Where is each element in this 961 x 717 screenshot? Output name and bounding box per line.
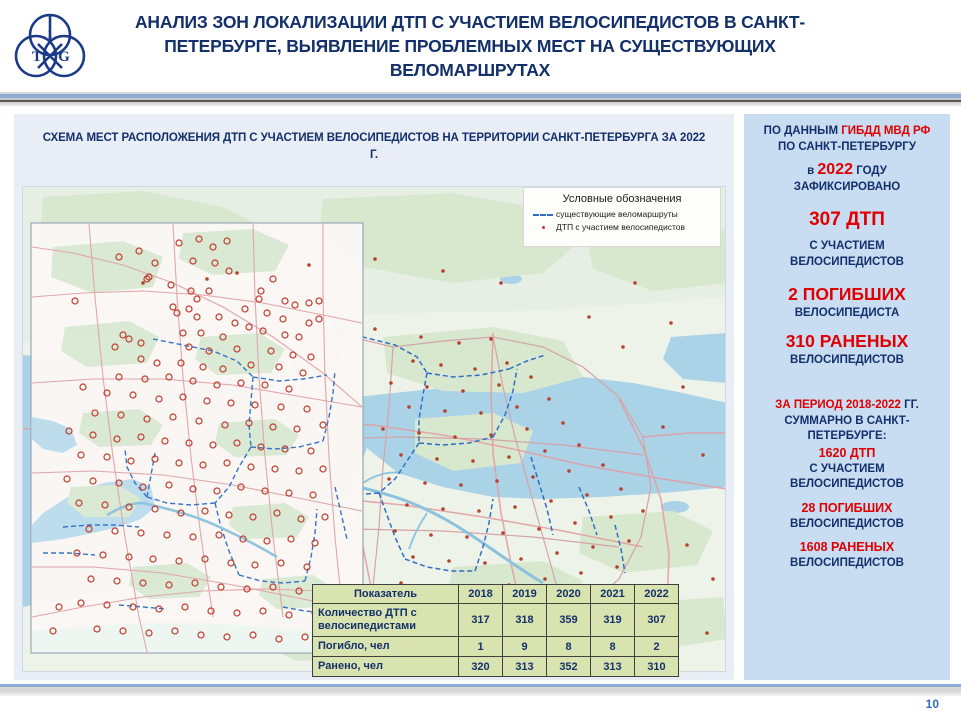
year-prefix: в xyxy=(807,165,817,177)
cell-value: 2 xyxy=(635,637,679,657)
period-line-3: ПЕТЕРБУРГЕ: xyxy=(752,429,942,445)
stats-table: Показатель 2018 2019 2020 2021 2022 Коли… xyxy=(312,584,679,677)
cell-value: 318 xyxy=(503,604,547,637)
period-line-2: СУММАРНО В САНКТ- xyxy=(752,414,942,430)
logo-letter-right: G xyxy=(58,49,70,65)
footer-divider xyxy=(0,684,961,696)
stat-total-accidents: 307 ДТП xyxy=(752,207,942,232)
cell-value: 317 xyxy=(459,604,503,637)
period-range: ЗА ПЕРИОД 2018-2022 xyxy=(775,399,901,411)
cell-value: 307 xyxy=(635,604,679,637)
recorded-label: ЗАФИКСИРОВАНО xyxy=(752,180,942,196)
header-divider-dark xyxy=(0,100,961,102)
logo-letter-top: i xyxy=(48,26,52,42)
header-divider xyxy=(0,92,961,106)
stat-injured: 310 РАНЕНЫХ xyxy=(752,329,942,353)
col-header-2020: 2020 xyxy=(547,585,591,604)
row-label: Ранено, чел xyxy=(313,657,459,677)
year-line: в 2022 ГОДУ xyxy=(752,162,942,180)
stat-deaths: 2 ПОГИБШИХ xyxy=(752,282,942,306)
table-header-row: Показатель 2018 2019 2020 2021 2022 xyxy=(313,585,679,604)
red-dot-icon xyxy=(530,221,556,233)
cell-value: 319 xyxy=(591,604,635,637)
slide-header: i T G АНАЛИЗ ЗОН ЛОКАЛИЗАЦИИ ДТП С УЧАСТ… xyxy=(0,0,961,92)
source-prefix: ПО ДАННЫМ xyxy=(764,125,842,137)
table-row: Количество ДТП с велосипедистами 317 318… xyxy=(313,604,679,637)
page-number: 10 xyxy=(926,697,939,711)
period-suffix: ГГ. xyxy=(901,399,919,411)
stat-total-accidents-sub2: ВЕЛОСИПЕДИСТОВ xyxy=(752,255,942,271)
source-line-2: ПО САНКТ-ПЕТЕРБУРГУ xyxy=(752,140,942,156)
legend-item-label: ДТП с участием велосипедистов xyxy=(556,221,685,233)
col-header-2018: 2018 xyxy=(459,585,503,604)
total-accidents-sub1: С УЧАСТИЕМ xyxy=(752,462,942,478)
period-line-1: ЗА ПЕРИОД 2018-2022 ГГ. xyxy=(752,398,942,414)
total-accidents-sub2: ВЕЛОСИПЕДИСТОВ xyxy=(752,477,942,493)
legend-item-bike-route: существующие веломаршруты xyxy=(530,208,714,220)
dashed-line-icon xyxy=(530,208,556,220)
cell-value: 8 xyxy=(547,637,591,657)
cell-value: 359 xyxy=(547,604,591,637)
legend-item-label: существующие веломаршруты xyxy=(556,208,678,220)
statistics-panel: ПО ДАННЫМ ГИБДД МВД РФ ПО САНКТ-ПЕТЕРБУР… xyxy=(744,114,950,680)
logo-letter-left: T xyxy=(32,49,42,65)
source-authority: ГИБДД МВД РФ xyxy=(841,125,930,137)
total-injured-sub: ВЕЛОСИПЕДИСТОВ xyxy=(752,556,942,572)
year-value: 2022 xyxy=(817,161,853,178)
cell-value: 352 xyxy=(547,657,591,677)
total-deaths-sub: ВЕЛОСИПЕДИСТОВ xyxy=(752,517,942,533)
cell-value: 313 xyxy=(591,657,635,677)
col-header-2019: 2019 xyxy=(503,585,547,604)
slide: i T G АНАЛИЗ ЗОН ЛОКАЛИЗАЦИИ ДТП С УЧАСТ… xyxy=(0,0,961,717)
row-label: Погибло, чел xyxy=(313,637,459,657)
stat-deaths-sub: ВЕЛОСИПЕДИСТА xyxy=(752,306,942,322)
map-subtitle: СХЕМА МЕСТ РАСПОЛОЖЕНИЯ ДТП С УЧАСТИЕМ В… xyxy=(38,130,710,164)
table-row: Ранено, чел 320 313 352 313 310 xyxy=(313,657,679,677)
cell-value: 310 xyxy=(635,657,679,677)
map-legend: Условные обозначения существующие велома… xyxy=(523,187,721,247)
cell-value: 320 xyxy=(459,657,503,677)
itg-logo-icon: i T G xyxy=(14,10,86,82)
cell-value: 8 xyxy=(591,637,635,657)
stat-total-accidents-sub1: С УЧАСТИЕМ xyxy=(752,239,942,255)
legend-item-accident: ДТП с участием велосипедистов xyxy=(530,221,714,233)
stats-table-wrapper: Показатель 2018 2019 2020 2021 2022 Коли… xyxy=(312,584,679,677)
col-header-indicator: Показатель xyxy=(313,585,459,604)
source-line-1: ПО ДАННЫМ ГИБДД МВД РФ xyxy=(752,124,942,140)
total-accidents: 1620 ДТП xyxy=(752,445,942,462)
col-header-2021: 2021 xyxy=(591,585,635,604)
cell-value: 9 xyxy=(503,637,547,657)
cell-value: 1 xyxy=(459,637,503,657)
year-suffix: ГОДУ xyxy=(853,165,887,177)
table-row: Погибло, чел 1 9 8 8 2 xyxy=(313,637,679,657)
total-injured: 1608 РАНЕНЫХ xyxy=(752,539,942,556)
stat-injured-sub: ВЕЛОСИПЕДИСТОВ xyxy=(752,353,942,369)
row-label: Количество ДТП с велосипедистами xyxy=(313,604,459,637)
legend-title: Условные обозначения xyxy=(530,193,714,205)
total-deaths: 28 ПОГИБШИХ xyxy=(752,500,942,517)
page-title: АНАЛИЗ ЗОН ЛОКАЛИЗАЦИИ ДТП С УЧАСТИЕМ ВЕ… xyxy=(120,10,820,82)
footer-divider-blue xyxy=(0,684,961,687)
cell-value: 313 xyxy=(503,657,547,677)
header-divider-blue xyxy=(0,94,961,98)
col-header-2022: 2022 xyxy=(635,585,679,604)
